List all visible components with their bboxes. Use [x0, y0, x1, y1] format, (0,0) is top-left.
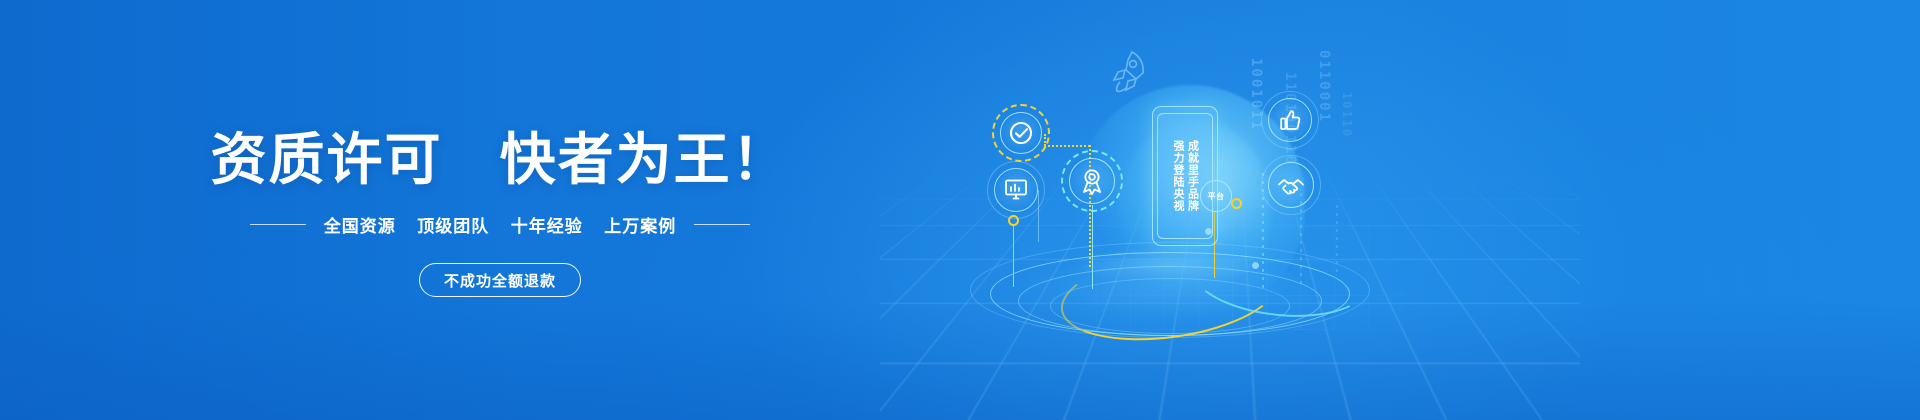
- banner-copy: 资质许可 快者为王！ 全国资源 顶级团队 十年经验 上万案例 不成功全额退款: [0, 0, 1000, 420]
- connector-line-cyan: [1092, 205, 1093, 289]
- handshake-icon: [1268, 162, 1314, 208]
- subtitle-item: 顶级团队: [417, 217, 489, 236]
- subtitle-item: 十年经验: [511, 217, 583, 236]
- monitor-chart-icon: [994, 168, 1038, 212]
- accent-dot: [1252, 262, 1259, 269]
- divider-left: [250, 224, 306, 225]
- phone-screen: 成就里手品牌 强力登陆央视: [1157, 113, 1213, 239]
- medal-award-icon: [1069, 158, 1115, 204]
- thumbs-up-icon: [1268, 98, 1312, 142]
- hero-banner: 1001011 110100110 0110001 10110: [0, 0, 1920, 420]
- page-title: 资质许可 快者为王！: [210, 129, 789, 191]
- connector-dotted: [1044, 145, 1090, 147]
- platform-tag-badge: 平台: [1200, 180, 1232, 212]
- connector-line-yellow: [1013, 225, 1014, 287]
- refund-guarantee-button[interactable]: 不成功全额退款: [419, 263, 581, 297]
- subtitle: 全国资源 顶级团队 十年经验 上万案例: [324, 212, 676, 237]
- subtitle-row: 全国资源 顶级团队 十年经验 上万案例: [250, 212, 750, 237]
- check-circle-icon: [1000, 112, 1042, 154]
- headline-part-2: 快者为王！: [500, 128, 790, 191]
- platform-tag-label: 平台: [1200, 180, 1232, 212]
- subtitle-item: 全国资源: [324, 217, 396, 236]
- pin-marker-yellow: [1231, 198, 1242, 209]
- subtitle-item: 上万案例: [604, 217, 676, 236]
- headline-part-1: 资质许可: [210, 128, 442, 191]
- phone-card: 成就里手品牌 强力登陆央视: [1152, 106, 1218, 246]
- phone-text-right: 成就里手品牌: [1186, 140, 1199, 212]
- binary-column: 10110: [1340, 92, 1354, 138]
- divider-right: [694, 224, 750, 225]
- binary-column: 0110001: [1316, 50, 1332, 123]
- phone-text-left: 强力登陆央视: [1171, 140, 1184, 212]
- rocket-icon: [1106, 48, 1150, 99]
